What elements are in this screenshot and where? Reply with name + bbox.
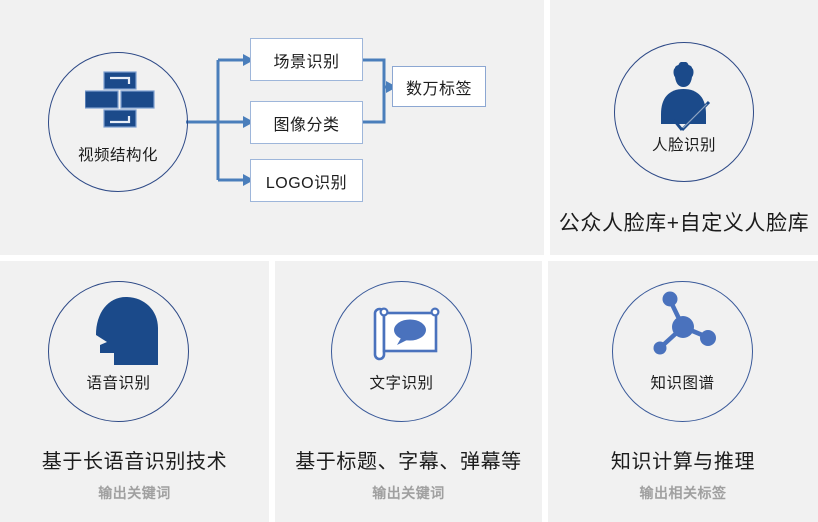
circle-label-text-recognition: 文字识别 — [331, 371, 472, 393]
circle-label-video-structuring: 视频结构化 — [48, 143, 188, 165]
flow-box-scene-recognition-label: 场景识别 — [273, 48, 339, 72]
panel-face-recognition: 人脸识别 公众人脸库+自定义人脸库 — [550, 0, 818, 255]
caption-text-recognition-main: 基于标题、字幕、弹幕等 — [275, 445, 542, 474]
video-structuring-icon — [85, 70, 155, 130]
caption-face-recognition: 公众人脸库+自定义人脸库 — [550, 207, 818, 237]
flow-box-image-classification[interactable]: 图像分类 — [250, 101, 363, 144]
caption-knowledge-graph-main: 知识计算与推理 — [548, 445, 818, 474]
circle-label-speech-recognition: 语音识别 — [48, 371, 189, 393]
panel-speech-recognition: 语音识别 基于长语音识别技术 输出关键词 — [0, 261, 269, 522]
speech-head-icon — [86, 295, 168, 369]
flow-box-image-classification-label: 图像分类 — [273, 111, 339, 135]
caption-text-recognition-sub: 输出关键词 — [275, 483, 542, 503]
text-banner-icon — [370, 305, 442, 367]
flow-box-tens-of-thousands-tags-label: 数万标签 — [406, 75, 472, 99]
panel-knowledge-graph: 知识图谱 知识计算与推理 输出相关标签 — [548, 261, 818, 522]
caption-speech-recognition-sub: 输出关键词 — [0, 483, 269, 503]
flow-box-tens-of-thousands-tags[interactable]: 数万标签 — [392, 66, 486, 107]
panel-video-structuring: 视频结构化 场景识别 图像分类 LOGO识别 数万标签 — [0, 0, 544, 255]
flow-box-logo-recognition-label: LOGO识别 — [266, 169, 347, 193]
face-recognition-icon — [655, 62, 713, 134]
infographic-canvas: 视频结构化 场景识别 图像分类 LOGO识别 数万标签 — [0, 0, 818, 522]
circle-label-face-recognition: 人脸识别 — [614, 133, 754, 155]
flow-box-logo-recognition[interactable]: LOGO识别 — [250, 159, 363, 202]
caption-knowledge-graph-sub: 输出相关标签 — [548, 483, 818, 503]
caption-speech-recognition-main: 基于长语音识别技术 — [0, 445, 269, 474]
flow-box-scene-recognition[interactable]: 场景识别 — [250, 38, 363, 81]
knowledge-graph-icon — [645, 285, 721, 361]
panel-text-recognition: 文字识别 基于标题、字幕、弹幕等 输出关键词 — [275, 261, 542, 522]
circle-label-knowledge-graph: 知识图谱 — [612, 371, 753, 393]
